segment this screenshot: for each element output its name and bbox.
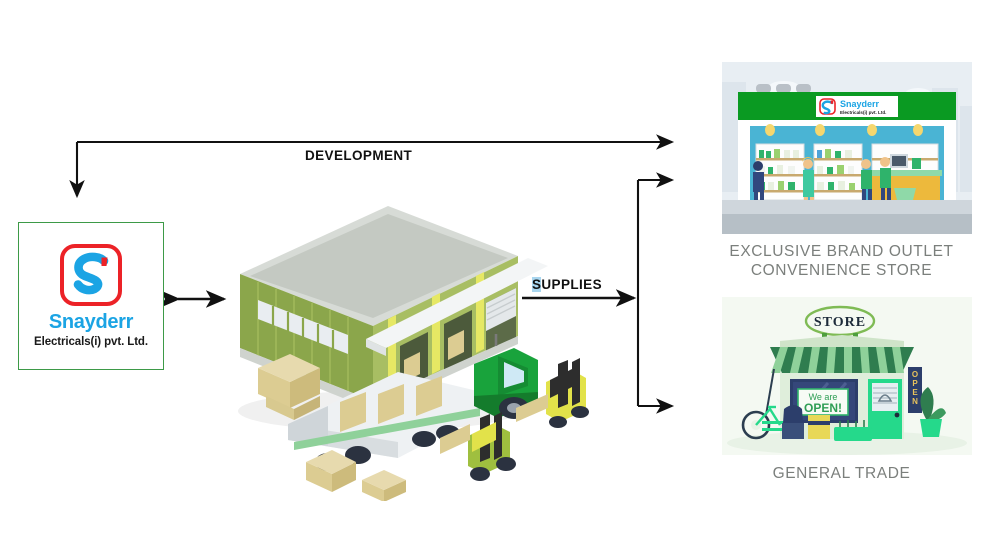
svg-text:P: P <box>912 379 918 388</box>
svg-text:OPEN!: OPEN! <box>804 401 842 415</box>
svg-text:N: N <box>912 397 918 406</box>
svg-text:O: O <box>912 370 918 379</box>
exclusive-brand-outlet-illustration: Snayderr Electricals(i) pvt. Ltd. <box>722 62 972 234</box>
svg-text:Snayderr: Snayderr <box>840 99 880 109</box>
channel-split-bracket <box>638 180 672 406</box>
general-trade-illustration: STORE <box>722 297 972 455</box>
caption-gt-line1: GENERAL TRADE <box>700 464 983 483</box>
caption-ebo-line1: EXCLUSIVE BRAND OUTLET <box>700 242 983 261</box>
diagram-canvas: Snayderr Electricals(i) pvt. Ltd. DEVELO… <box>0 0 983 553</box>
brand-logo-box: Snayderr Electricals(i) pvt. Ltd. <box>18 222 164 370</box>
logo-s-letter <box>60 244 122 306</box>
svg-text:E: E <box>912 388 918 397</box>
caption-exclusive-brand-outlet: EXCLUSIVE BRAND OUTLET CONVENIENCE STORE <box>700 242 983 280</box>
brand-subtitle: Electricals(i) pvt. Ltd. <box>34 336 148 348</box>
brand-name: Snayderr <box>49 312 133 332</box>
brand-name-text: Snayderr <box>49 311 133 333</box>
development-label: DEVELOPMENT <box>305 148 412 163</box>
svg-text:STORE: STORE <box>814 315 866 330</box>
snayderr-logo-mark <box>60 244 122 306</box>
caption-ebo-line2: CONVENIENCE STORE <box>700 261 983 280</box>
warehouse-illustration <box>228 196 608 501</box>
svg-text:Electricals(i) pvt. Ltd.: Electricals(i) pvt. Ltd. <box>840 110 886 115</box>
open-sign-vertical: O P E N <box>908 367 922 413</box>
caption-general-trade: GENERAL TRADE <box>700 464 983 483</box>
